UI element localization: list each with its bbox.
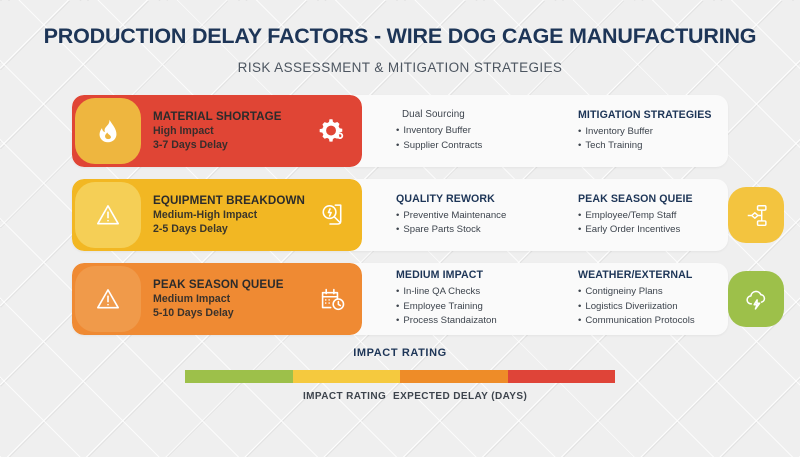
column-heading: QUALITY REWORK: [396, 193, 546, 205]
page-subtitle: RISK ASSESSMENT & MITIGATION STRATEGIES: [0, 60, 800, 75]
row-title: PEAK SEASON QUEUE: [153, 277, 284, 292]
magnifier-document-icon: [319, 202, 346, 229]
column: Dual Sourcing Inventory Buffer Supplier …: [396, 109, 546, 153]
column-list: Preventive Maintenance Spare Parts Stock: [396, 209, 546, 238]
list-item: Communication Protocols: [578, 314, 728, 328]
list-item: Process Standaizaton: [396, 314, 546, 328]
legend-segment-high: [508, 370, 616, 383]
list-item: Inventory Buffer: [396, 124, 546, 138]
warning-triangle-icon: [95, 286, 121, 312]
column-list: In-line QA Checks Employee Training Proc…: [396, 285, 546, 328]
page-title: PRODUCTION DELAY FACTORS - WIRE DOG CAGE…: [0, 24, 800, 49]
list-item: Supplier Contracts: [396, 139, 546, 153]
row-columns: MEDIUM IMPACT In-line QA Checks Employee…: [362, 269, 728, 328]
row-columns: QUALITY REWORK Preventive Maintenance Sp…: [362, 193, 728, 238]
legend-segment-medium-high: [400, 370, 508, 383]
warning-triangle-icon: [95, 202, 121, 228]
impact-rating-gradient-bar: [185, 370, 615, 383]
infographic-page: PRODUCTION DELAY FACTORS - WIRE DOG CAGE…: [0, 0, 800, 457]
list-item: Preventive Maintenance: [396, 209, 546, 223]
list-item: Inventory Buffer: [578, 125, 728, 139]
row-badge: [75, 182, 141, 248]
column: WEATHER/EXTERNAL Contigneiny Plans Logis…: [578, 269, 728, 328]
table-row[interactable]: MATERIAL SHORTAGE High Impact 3-7 Days D…: [72, 95, 728, 167]
list-item: Contigneiny Plans: [578, 285, 728, 299]
legend-label-expected-delay: EXPECTED DELAY (DAYS): [393, 391, 527, 402]
column: MITIGATION STRATEGIES Inventory Buffer T…: [578, 109, 728, 154]
legend-labels: IMPACT RATING EXPECTED DELAY (DAYS): [185, 391, 615, 405]
row-delay: 2-5 Days Delay: [153, 223, 305, 237]
column-list: Employee/Temp Staff Early Order Incentiv…: [578, 209, 728, 238]
flame-icon: [95, 118, 121, 144]
legend-label-impact-rating: IMPACT RATING: [303, 391, 386, 402]
column: MEDIUM IMPACT In-line QA Checks Employee…: [396, 269, 546, 328]
row-pill-equipment-breakdown[interactable]: EQUIPMENT BREAKDOWN Medium-High Impact 2…: [72, 179, 362, 251]
row-columns: Dual Sourcing Inventory Buffer Supplier …: [362, 109, 728, 154]
list-item: Spare Parts Stock: [396, 223, 546, 237]
sitemap-icon: [744, 203, 769, 228]
column-heading: MEDIUM IMPACT: [396, 269, 546, 281]
table-row[interactable]: EQUIPMENT BREAKDOWN Medium-High Impact 2…: [72, 179, 728, 251]
pill-text: EQUIPMENT BREAKDOWN Medium-High Impact 2…: [153, 193, 305, 236]
column-list: Inventory Buffer Supplier Contracts: [396, 124, 546, 153]
row-title: MATERIAL SHORTAGE: [153, 109, 282, 124]
list-item: Early Order Incentives: [578, 223, 728, 237]
row-pill-material-shortage[interactable]: MATERIAL SHORTAGE High Impact 3-7 Days D…: [72, 95, 362, 167]
row-pill-peak-season-queue[interactable]: PEAK SEASON QUEUE Medium Impact 5-10 Day…: [72, 263, 362, 335]
column-heading: WEATHER/EXTERNAL: [578, 269, 728, 281]
row-badge: [75, 98, 141, 164]
list-item: In-line QA Checks: [396, 285, 546, 299]
column-list: Contigneiny Plans Logistics Diveriizatio…: [578, 285, 728, 328]
column-list: Inventory Buffer Tech Training: [578, 125, 728, 154]
list-item: Logistics Diveriization: [578, 300, 728, 314]
row-impact: High Impact: [153, 125, 282, 139]
column: PEAK SEASON QUEIE Employee/Temp Staff Ea…: [578, 193, 728, 238]
column-heading: Dual Sourcing: [396, 109, 546, 120]
pill-text: PEAK SEASON QUEUE Medium Impact 5-10 Day…: [153, 277, 284, 320]
list-item: Employee/Temp Staff: [578, 209, 728, 223]
header: PRODUCTION DELAY FACTORS - WIRE DOG CAGE…: [0, 0, 800, 75]
row-badge: [75, 266, 141, 332]
column: QUALITY REWORK Preventive Maintenance Sp…: [396, 193, 546, 238]
row-impact: Medium Impact: [153, 293, 284, 307]
column-heading: MITIGATION STRATEGIES: [578, 109, 728, 121]
row-end-badge[interactable]: [728, 187, 784, 243]
pill-text: MATERIAL SHORTAGE High Impact 3-7 Days D…: [153, 109, 282, 152]
legend-segment-low: [185, 370, 293, 383]
row-title: EQUIPMENT BREAKDOWN: [153, 193, 305, 208]
gears-icon: [319, 118, 346, 145]
row-end-badge[interactable]: [728, 271, 784, 327]
calendar-clock-icon: [319, 286, 346, 313]
list-item: Tech Training: [578, 139, 728, 153]
legend-title: IMPACT RATING: [0, 347, 800, 359]
table-row[interactable]: PEAK SEASON QUEUE Medium Impact 5-10 Day…: [72, 263, 728, 335]
list-item: Employee Training: [396, 300, 546, 314]
legend-segment-medium: [293, 370, 401, 383]
risk-rows: MATERIAL SHORTAGE High Impact 3-7 Days D…: [0, 95, 800, 335]
row-delay: 3-7 Days Delay: [153, 139, 282, 153]
column-heading: PEAK SEASON QUEIE: [578, 193, 728, 205]
legend: IMPACT RATING IMPACT RATING EXPECTED DEL…: [0, 347, 800, 405]
row-impact: Medium-High Impact: [153, 209, 305, 223]
row-delay: 5-10 Days Delay: [153, 307, 284, 321]
cloud-lightning-icon: [744, 287, 769, 312]
